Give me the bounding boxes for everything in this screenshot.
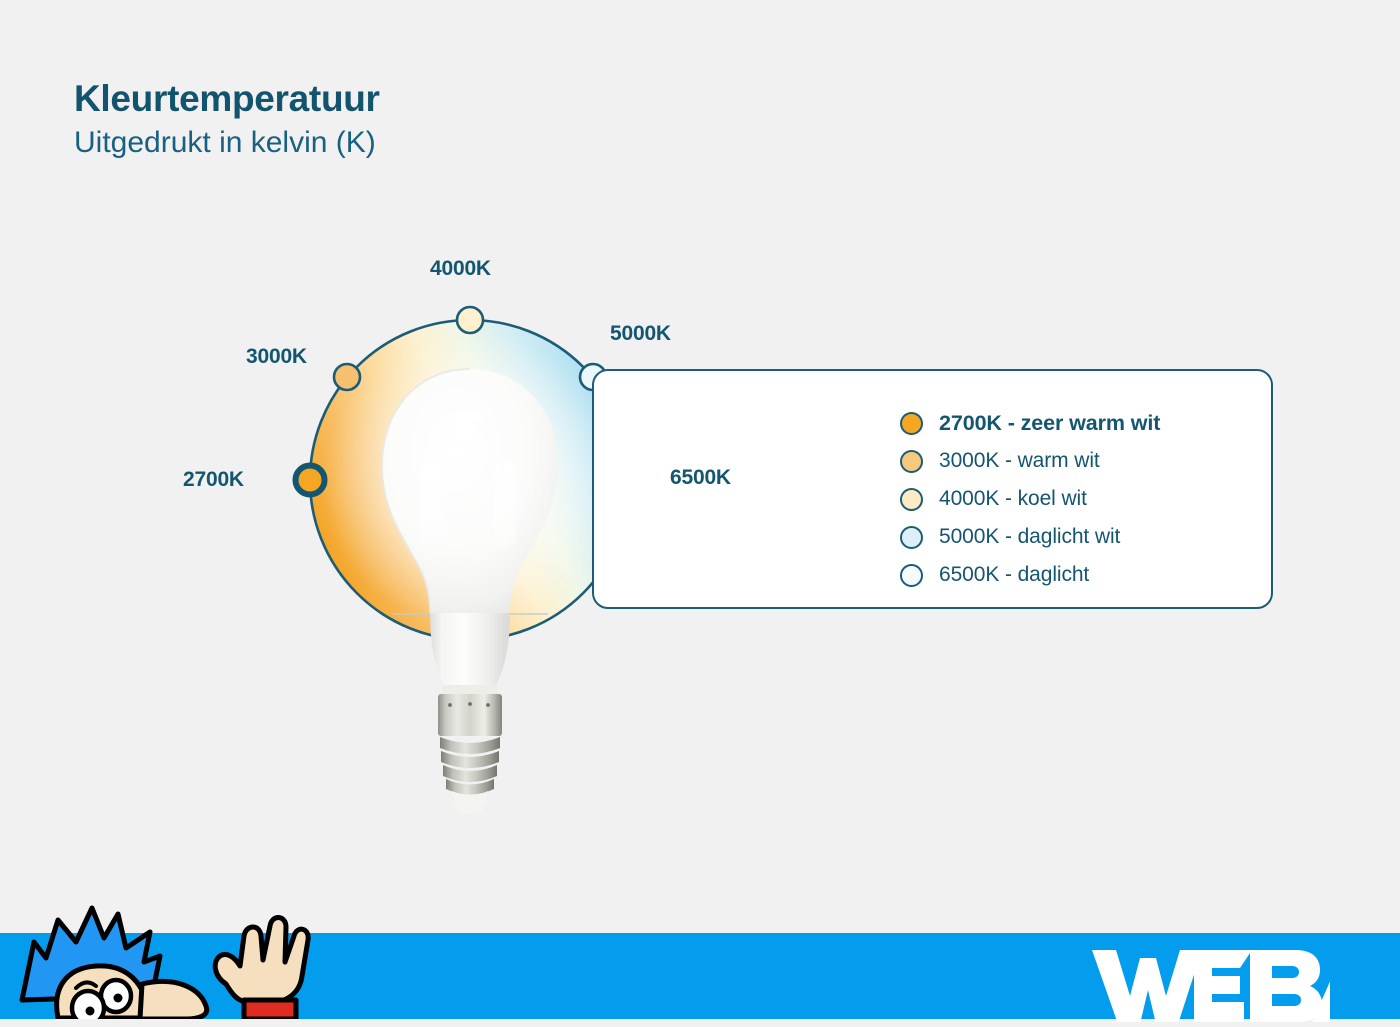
- legend-label-6500k: 6500K - daglicht: [939, 563, 1089, 587]
- mascot-pupil-left: [86, 1007, 95, 1016]
- legend-item-3000k[interactable]: 3000K - warm wit: [900, 442, 1160, 480]
- light-bulb-illustration: [370, 363, 570, 843]
- legend-swatch-3000k: [900, 450, 923, 473]
- legend-swatch-5000k: [900, 526, 923, 549]
- page-title: Kleurtemperatuur: [74, 78, 380, 119]
- legend-item-5000k[interactable]: 5000K - daglicht wit: [900, 518, 1160, 556]
- wheel-label-5000k: 5000K: [610, 322, 671, 346]
- weba-logo: [1090, 944, 1330, 1027]
- mascot-illustration: [0, 884, 400, 1024]
- wheel-label-3000k: 3000K: [246, 345, 307, 369]
- bulb-highlight-top: [456, 411, 482, 449]
- bulb-metal-base: [438, 694, 502, 736]
- legend-swatch-4000k: [900, 488, 923, 511]
- legend-item-2700k[interactable]: 2700K - zeer warm wit: [900, 404, 1160, 442]
- wheel-label-6500k: 6500K: [670, 466, 731, 490]
- wheel-node-4000k[interactable]: [457, 307, 483, 333]
- bulb-tip: [452, 791, 488, 815]
- wheel-node-2700k-active[interactable]: [296, 466, 325, 495]
- bulb-base-rivet: [468, 702, 472, 706]
- bulb-highlight-left: [420, 463, 442, 547]
- legend-label-4000k: 4000K - koel wit: [939, 487, 1087, 511]
- mascot-sleeve: [244, 1000, 296, 1019]
- bulb-base-rivet: [486, 703, 490, 707]
- legend-label-5000k: 5000K - daglicht wit: [939, 525, 1120, 549]
- mascot-hand: [215, 917, 308, 1002]
- bulb-glass: [382, 369, 558, 613]
- mascot-svg: [0, 884, 400, 1019]
- infographic-canvas: Kleurtemperatuur Uitgedrukt in kelvin (K…: [0, 0, 1400, 1019]
- weba-logo-svg: [1090, 944, 1330, 1022]
- page-subtitle: Uitgedrukt in kelvin (K): [74, 125, 380, 161]
- legend-swatch-6500k: [900, 564, 923, 587]
- bulb-neck: [430, 613, 510, 685]
- bulb-base-rivet: [448, 703, 452, 707]
- mascot-pupil-right: [114, 994, 123, 1003]
- wheel-node-3000k[interactable]: [334, 364, 360, 390]
- mascot-nose: [140, 981, 207, 1019]
- bulb-svg: [370, 363, 570, 843]
- legend-item-4000k[interactable]: 4000K - koel wit: [900, 480, 1160, 518]
- legend-list: 2700K - zeer warm wit 3000K - warm wit 4…: [900, 404, 1160, 594]
- bulb-collar-ring: [442, 685, 498, 695]
- page-heading: Kleurtemperatuur Uitgedrukt in kelvin (K…: [74, 78, 380, 161]
- legend-label-3000k: 3000K - warm wit: [939, 449, 1100, 473]
- bulb-highlight-right: [494, 461, 516, 549]
- bulb-screw-threads: [440, 737, 500, 795]
- legend-swatch-2700k: [900, 412, 923, 435]
- legend-item-6500k[interactable]: 6500K - daglicht: [900, 556, 1160, 594]
- wheel-label-4000k: 4000K: [430, 257, 491, 281]
- legend-label-2700k: 2700K - zeer warm wit: [939, 411, 1160, 436]
- wheel-label-2700k: 2700K: [183, 468, 244, 492]
